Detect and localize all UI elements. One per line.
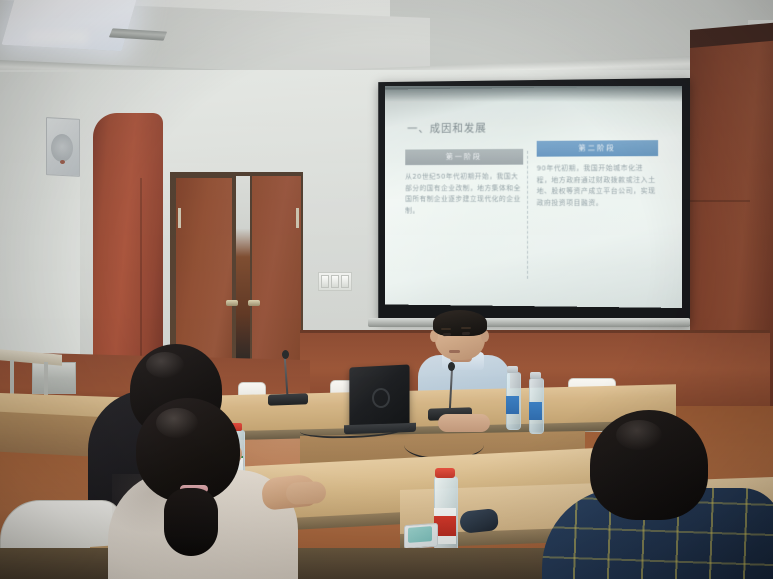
door-hinge-right-icon [296, 208, 299, 228]
presenter-hands [438, 414, 490, 432]
audience-right-hair-highlight [616, 420, 662, 450]
audience-center-hand-2 [285, 481, 326, 505]
slide-title: 一、成因和发展 [407, 120, 487, 136]
microphone-base-icon[interactable] [268, 393, 308, 405]
presenter-eye-left [443, 333, 451, 336]
slide-column-1: 第一阶段 从20世纪50年代初期开始，我国大部分的国有企业改制，地方集体和全国所… [405, 149, 523, 217]
bottle-cap-icon [435, 468, 455, 478]
door-hinge-left-icon [178, 208, 181, 228]
wall-speaker-led-icon [60, 160, 65, 164]
slide-box-header-1: 第一阶段 [405, 149, 523, 165]
light-switch-3[interactable] [341, 275, 349, 288]
wall-vent-icon [32, 362, 76, 394]
light-switch-panel[interactable] [318, 272, 352, 291]
slide-box-header-2: 第二阶段 [537, 140, 658, 157]
presenter-eyebrow-left [441, 328, 451, 330]
wall-speaker-cone-icon [51, 134, 73, 162]
microphone-head-icon [448, 362, 455, 371]
door-handle-left-icon[interactable] [226, 300, 238, 306]
glasses-case[interactable] [459, 508, 499, 534]
slide-column-2: 第二阶段 90年代初期，我国开始城市化进程，地方政府通过财政拨款或注入土地、股权… [537, 140, 658, 209]
bottle-label [506, 396, 519, 414]
microphone-head-icon [282, 350, 289, 359]
smartphone-screen[interactable] [408, 526, 432, 543]
presenter-mouth [449, 350, 460, 353]
projection-screen-roller[interactable] [368, 318, 690, 327]
presenter-eye-right [462, 332, 470, 335]
conference-room-photo: 一、成因和发展 第一阶段 从20世纪50年代初期开始，我国大部分的国有企业改制，… [0, 0, 773, 579]
bottle-cap-icon [530, 372, 541, 379]
door-handle-right-icon[interactable] [248, 300, 260, 306]
laptop-logo-icon [372, 388, 390, 408]
presentation-slide: 一、成因和发展 第一阶段 从20世纪50年代初期开始，我国大部分的国有企业改制，… [392, 104, 674, 300]
left-wall [0, 72, 80, 372]
slide-box-body-1: 从20世纪50年代初期开始，我国大部分的国有企业改制，地方集体和全国所有制企业逐… [405, 172, 523, 217]
presenter-eyebrow-right [461, 327, 471, 329]
ceiling-light-glow [28, 30, 88, 44]
light-switch-1[interactable] [321, 275, 329, 288]
slide-box-body-2: 90年代初期，我国开始城市化进程，地方政府通过财政拨款或注入土地、股权等资产成立… [537, 163, 658, 209]
screen-top-shadow [385, 86, 682, 102]
slide-divider [527, 151, 529, 279]
audience-center-hair-highlight [156, 408, 198, 438]
presenter-hair [433, 310, 487, 336]
audience-center-ponytail [164, 488, 218, 556]
bottle-label [529, 402, 542, 420]
wood-wainscot-edge [300, 330, 770, 333]
audience-left-hair-highlight [146, 352, 184, 378]
light-switch-2[interactable] [331, 275, 339, 288]
bottle-cap-icon [507, 366, 518, 373]
wood-panel-seam [690, 200, 750, 202]
